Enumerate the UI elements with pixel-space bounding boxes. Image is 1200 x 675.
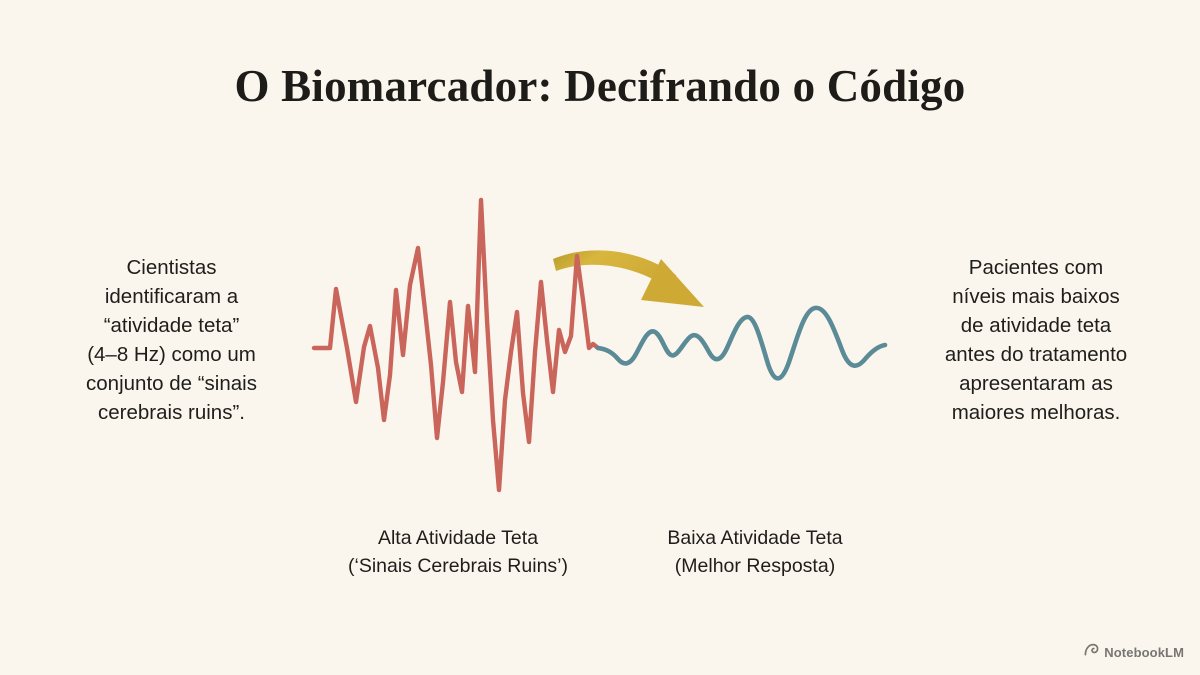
notebooklm-label: NotebookLM: [1104, 645, 1184, 660]
notebooklm-spiral-icon: [1084, 643, 1099, 661]
caption-high-theta: Alta Atividade Teta (‘Sinais Cerebrais R…: [308, 524, 608, 580]
right-annotation-text: Pacientes com níveis mais baixos de ativ…: [905, 253, 1167, 427]
low-theta-waveform-line: [598, 308, 885, 378]
caption-low-theta: Baixa Atividade Teta (Melhor Resposta): [620, 524, 890, 580]
notebooklm-watermark: NotebookLM: [1084, 643, 1184, 661]
eeg-waveform-figure: [295, 170, 905, 515]
left-annotation-text: Cientistas identificaram a “atividade te…: [45, 253, 298, 427]
high-theta-waveform-line: [314, 200, 598, 490]
waveform-svg: [295, 170, 905, 515]
slide-canvas: O Biomarcador: Decifrando o Código Cient…: [0, 0, 1200, 675]
page-title: O Biomarcador: Decifrando o Código: [0, 62, 1200, 112]
